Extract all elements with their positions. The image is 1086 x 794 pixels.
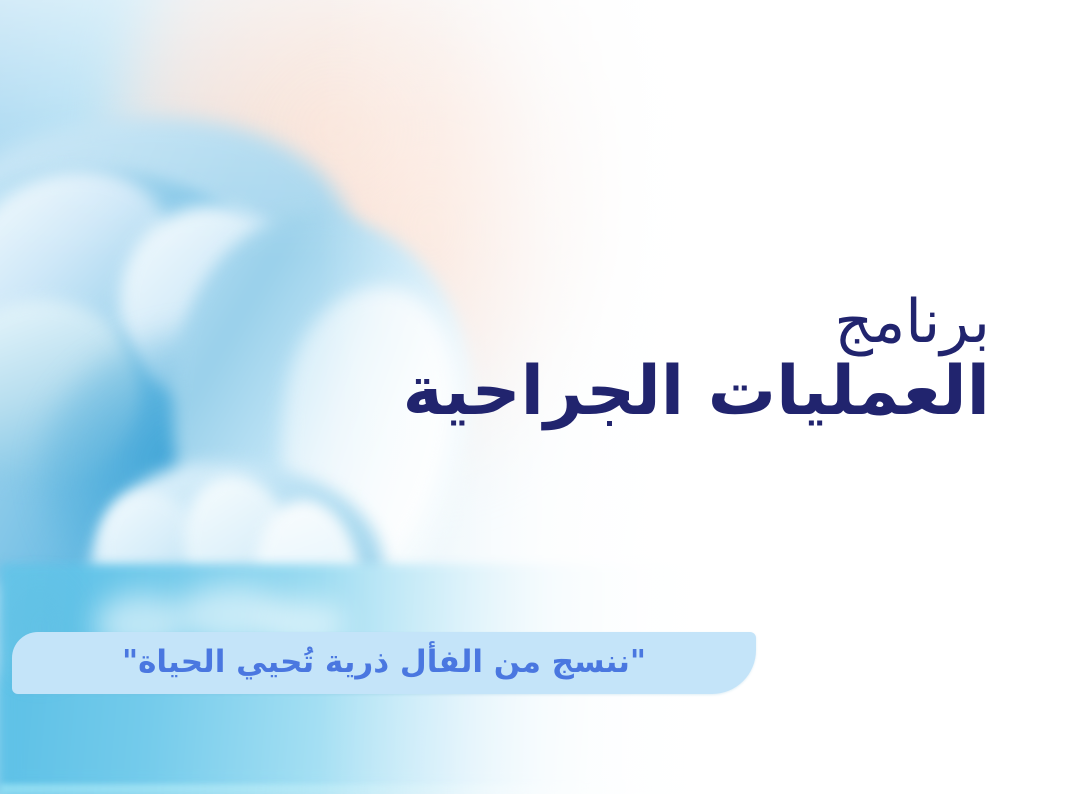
title-line-program: برنامج bbox=[403, 292, 990, 352]
bottom-edge-glow bbox=[0, 784, 760, 794]
tagline-text: "ننسج من الفأل ذرية تُحيي الحياة" bbox=[122, 644, 646, 683]
page-title: برنامج العمليات الجراحية bbox=[403, 292, 990, 426]
title-line-surgical-operations: العمليات الجراحية bbox=[403, 358, 990, 426]
poster-canvas: برنامج العمليات الجراحية "ننسج من الفأل … bbox=[0, 0, 1086, 794]
tagline-banner: "ننسج من الفأل ذرية تُحيي الحياة" bbox=[12, 632, 756, 694]
